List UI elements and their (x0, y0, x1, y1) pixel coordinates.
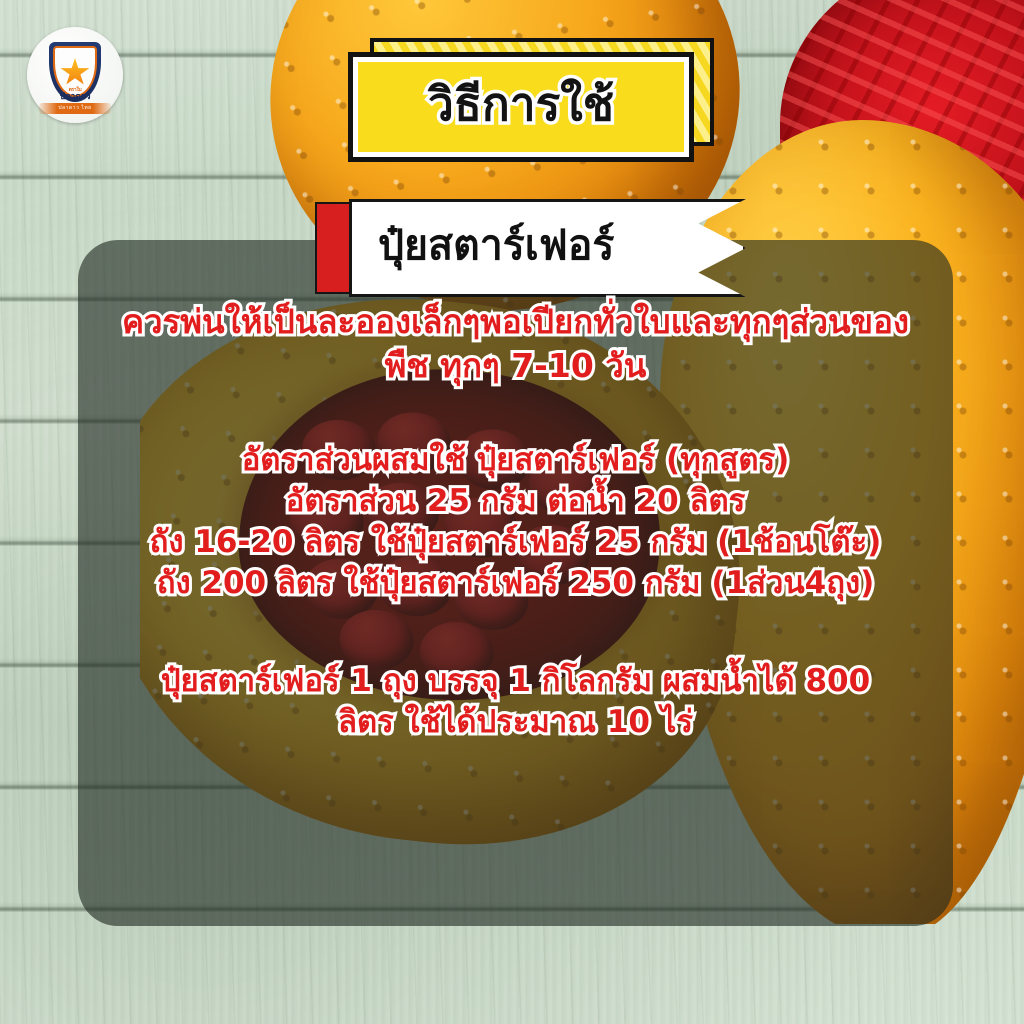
instruction-p1-line1: ควรพ่นให้เป็นละอองเล็กๆพอเปียกทั่วใบและท… (78, 300, 953, 344)
instruction-paragraph-3: ถัง 16-20 ลิตร ใช้ปุ๋ยสตาร์เฟอร์ 25 กรัม… (78, 522, 953, 604)
instruction-p3-line2: ถัง 200 ลิตร ใช้ปุ๋ยสตาร์เฟอร์ 250 กรัม … (78, 563, 953, 604)
product-ribbon: ปุ๋ยสตาร์เฟอร์ (315, 199, 740, 291)
instruction-paragraph-1: ควรพ่นให้เป็นละอองเล็กๆพอเปียกทั่วใบและท… (78, 300, 953, 388)
instruction-p2-line1: อัตราส่วนผสมใช้ ปุ๋ยสตาร์เฟอร์ (ทุกสูตร) (78, 440, 953, 481)
shield-inner: ตราใบ ปลาดาว (53, 46, 97, 97)
instructions-block: ควรพ่นให้เป็นละอองเล็กๆพอเปียกทั่วใบและท… (78, 300, 953, 751)
product-ribbon-body: ปุ๋ยสตาร์เฟอร์ (349, 199, 746, 297)
logo-ribbon: ปลาดาว ไทย (39, 103, 111, 114)
title-banner-front: วิธีการใช้ (348, 52, 694, 162)
poster-canvas: ตราใบ ปลาดาว ปลาดาว ไทย วิธีการใช้ ปุ๋ยส… (0, 0, 1024, 1024)
logo-brand-name: ตราใบ ปลาดาว (55, 88, 95, 102)
instruction-paragraph-4: ปุ๋ยสตาร์เฟอร์ 1 ถุง บรรจุ 1 กิโลกรัม ผส… (78, 661, 953, 743)
brand-logo: ตราใบ ปลาดาว ปลาดาว ไทย (27, 27, 123, 123)
logo-brand-th: ปลาดาว (60, 92, 90, 102)
instruction-p4-line2: ลิตร ใช้ได้ประมาณ 10 ไร่ (78, 702, 953, 743)
instruction-p4-line1: ปุ๋ยสตาร์เฟอร์ 1 ถุง บรรจุ 1 กิโลกรัม ผส… (78, 661, 953, 702)
star-icon (60, 58, 90, 87)
shield-icon: ตราใบ ปลาดาว (49, 42, 101, 102)
instruction-p2-line2: อัตราส่วน 25 กรัม ต่อน้ำ 20 ลิตร (78, 481, 953, 522)
instruction-p3-line1: ถัง 16-20 ลิตร ใช้ปุ๋ยสตาร์เฟอร์ 25 กรัม… (78, 522, 953, 563)
product-ribbon-text: ปุ๋ยสตาร์เฟอร์ (378, 225, 614, 272)
instruction-paragraph-2: อัตราส่วนผสมใช้ ปุ๋ยสตาร์เฟอร์ (ทุกสูตร)… (78, 440, 953, 522)
instruction-p1-line2: พืช ทุกๆ 7-10 วัน (78, 344, 953, 388)
title-banner: วิธีการใช้ (348, 38, 708, 156)
title-banner-text: วิธีการใช้ (428, 81, 614, 133)
